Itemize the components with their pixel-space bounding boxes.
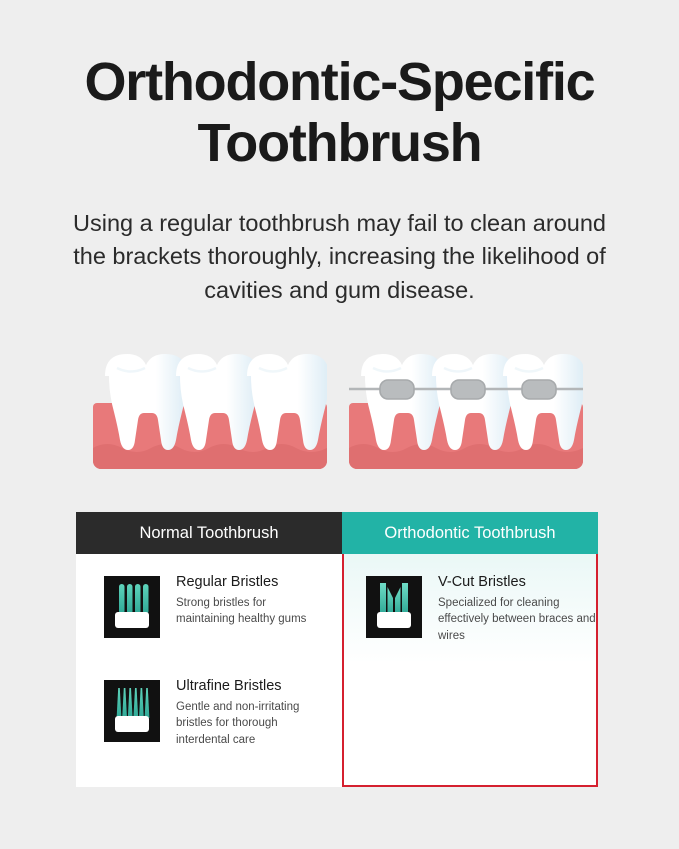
feature-text: V-Cut Bristles Specialized for cleaning … (438, 574, 596, 644)
ultrafine-bristles-icon (104, 680, 160, 742)
feature-regular-bristles: Regular Bristles Strong bristles for mai… (104, 574, 342, 638)
feature-title: Regular Bristles (176, 574, 326, 591)
feature-description: Specialized for cleaning effectively bet… (438, 595, 596, 643)
v-cut-bristles-icon (366, 576, 422, 638)
page-title: Orthodontic-Specific Toothbrush (40, 52, 639, 174)
feature-text: Ultrafine Bristles Gentle and non-irrita… (176, 678, 326, 748)
regular-bristles-icon (104, 576, 160, 638)
feature-text: Regular Bristles Strong bristles for mai… (176, 574, 326, 628)
feature-title: V-Cut Bristles (438, 574, 596, 591)
column-orthodontic-toothbrush: Orthodontic Toothbrush (342, 512, 598, 787)
normal-teeth-illustration (93, 348, 327, 473)
feature-title: Ultrafine Bristles (176, 678, 326, 695)
column-header-orthodontic: Orthodontic Toothbrush (342, 512, 598, 554)
feature-description: Gentle and non-irritating bristles for t… (176, 699, 326, 747)
column-normal-toothbrush: Normal Toothbrush (76, 512, 342, 787)
illustration-row (0, 348, 679, 473)
feature-ultrafine-bristles: Ultrafine Bristles Gentle and non-irrita… (104, 678, 342, 748)
braces-teeth-illustration (349, 348, 583, 473)
feature-v-cut-bristles: V-Cut Bristles Specialized for cleaning … (366, 574, 596, 644)
comparison-table: Normal Toothbrush (76, 512, 598, 787)
page-subtitle: Using a regular toothbrush may fail to c… (55, 207, 624, 307)
feature-description: Strong bristles for maintaining healthy … (176, 595, 326, 627)
bracket-group (380, 380, 556, 399)
column-header-normal: Normal Toothbrush (76, 512, 342, 554)
